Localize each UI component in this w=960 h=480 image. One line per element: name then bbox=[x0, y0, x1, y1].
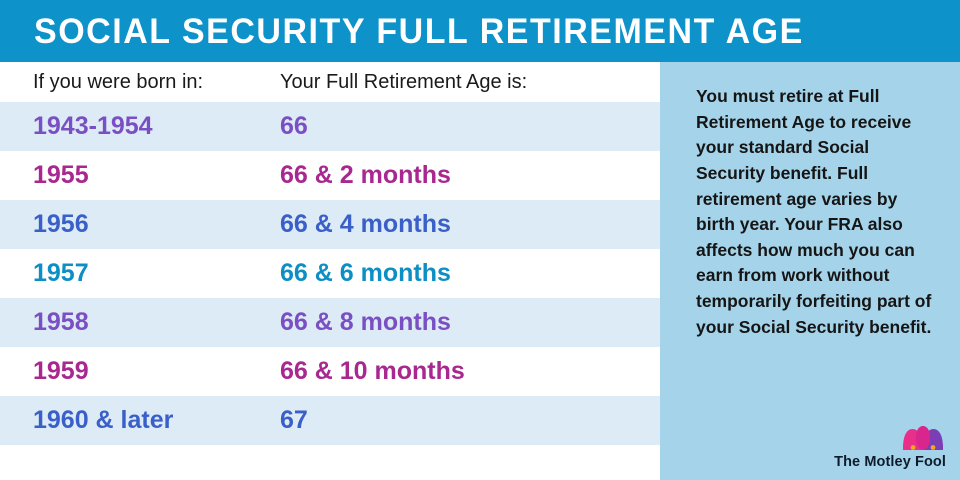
table-row: 1957 66 & 6 months bbox=[0, 249, 660, 298]
cell-retirement-age: 66 bbox=[280, 114, 308, 139]
table-row: 1943-1954 66 bbox=[0, 102, 660, 151]
motley-fool-logo: The Motley Fool bbox=[816, 426, 946, 472]
cell-retirement-age: 67 bbox=[280, 408, 308, 433]
explanatory-note-panel: You must retire at Full Retirement Age t… bbox=[660, 62, 960, 480]
logo-wordmark: The Motley Fool bbox=[834, 454, 946, 470]
table-row: 1955 66 & 2 months bbox=[0, 151, 660, 200]
retirement-age-table: If you were born in: Your Full Retiremen… bbox=[0, 62, 660, 480]
cell-retirement-age: 66 & 8 months bbox=[280, 310, 451, 335]
cell-birth-year: 1960 & later bbox=[0, 408, 280, 433]
cell-retirement-age: 66 & 2 months bbox=[280, 163, 451, 188]
cell-birth-year: 1959 bbox=[0, 359, 280, 384]
cell-retirement-age: 66 & 4 months bbox=[280, 212, 451, 237]
table-row: 1956 66 & 4 months bbox=[0, 200, 660, 249]
cell-birth-year: 1955 bbox=[0, 163, 280, 188]
table-row: 1958 66 & 8 months bbox=[0, 298, 660, 347]
cell-birth-year: 1958 bbox=[0, 310, 280, 335]
cell-birth-year: 1943-1954 bbox=[0, 114, 280, 139]
table-row: 1959 66 & 10 months bbox=[0, 347, 660, 396]
infographic-root: SOCIAL SECURITY FULL RETIREMENT AGE If y… bbox=[0, 0, 960, 480]
column-header-retirement-age: Your Full Retirement Age is: bbox=[280, 72, 527, 92]
cell-birth-year: 1957 bbox=[0, 261, 280, 286]
cell-retirement-age: 66 & 10 months bbox=[280, 359, 465, 384]
page-title: SOCIAL SECURITY FULL RETIREMENT AGE bbox=[34, 14, 804, 49]
header-banner: SOCIAL SECURITY FULL RETIREMENT AGE bbox=[0, 0, 960, 62]
table-header-row: If you were born in: Your Full Retiremen… bbox=[0, 62, 660, 102]
note-text: You must retire at Full Retirement Age t… bbox=[696, 84, 940, 340]
jester-hat-icon bbox=[902, 426, 944, 450]
cell-birth-year: 1956 bbox=[0, 212, 280, 237]
cell-retirement-age: 66 & 6 months bbox=[280, 261, 451, 286]
column-header-birth-year: If you were born in: bbox=[0, 72, 280, 92]
table-row: 1960 & later 67 bbox=[0, 396, 660, 445]
